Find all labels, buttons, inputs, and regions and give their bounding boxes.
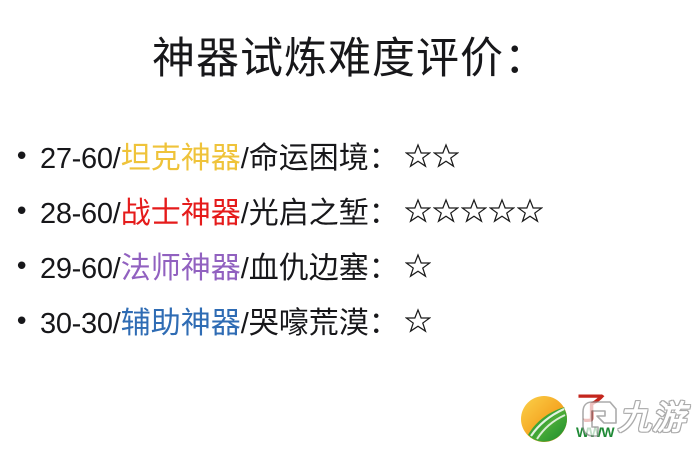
list-item: • 27-60/坦克神器/命运困境： xyxy=(0,131,700,186)
star-rating xyxy=(405,143,459,169)
star-outline-icon xyxy=(405,198,431,224)
star-outline-icon xyxy=(405,143,431,169)
separator: / xyxy=(113,308,121,340)
jiuyou-g-mark-icon xyxy=(580,396,620,440)
location-name: 哭嚎荒漠 xyxy=(249,307,369,340)
separator: / xyxy=(241,253,249,285)
star-rating xyxy=(405,253,431,279)
list-item: • 29-60/法师神器/血仇边塞： xyxy=(0,241,700,296)
colon: ： xyxy=(369,197,399,230)
location-name: 命运困境 xyxy=(249,142,369,175)
star-outline-icon xyxy=(489,198,515,224)
list-item: • 28-60/战士神器/光启之堑： xyxy=(0,186,700,241)
level-range: 30-30 xyxy=(40,308,113,340)
star-outline-icon xyxy=(405,308,431,334)
separator: / xyxy=(113,198,121,230)
page-title: 神器试炼难度评价： xyxy=(0,30,700,90)
level-range: 29-60 xyxy=(40,253,113,285)
list-item-text: 28-60/战士神器/光启之堑： xyxy=(40,197,543,231)
star-rating xyxy=(405,198,543,224)
star-outline-icon xyxy=(461,198,487,224)
bullet-icon: • xyxy=(14,309,40,335)
star-outline-icon xyxy=(433,198,459,224)
colon: ： xyxy=(369,307,399,340)
slide-canvas: 神器试炼难度评价： • 27-60/坦克神器/命运困境： • 28-60/战士神… xyxy=(0,0,700,450)
separator: / xyxy=(241,198,249,230)
star-outline-icon xyxy=(517,198,543,224)
colon: ： xyxy=(369,142,399,175)
list-item-text: 27-60/坦克神器/命运困境： xyxy=(40,142,459,176)
leaf-circle-logo xyxy=(520,395,568,443)
difficulty-list: • 27-60/坦克神器/命运困境： • 28-60/战士神器/光启之堑： • … xyxy=(0,131,700,351)
artifact-class-name: 辅助神器 xyxy=(121,307,241,340)
colon: ： xyxy=(369,252,399,285)
level-range: 27-60 xyxy=(40,143,113,175)
star-rating xyxy=(405,308,431,334)
star-outline-icon xyxy=(405,253,431,279)
bullet-icon: • xyxy=(14,144,40,170)
artifact-class-name: 法师神器 xyxy=(121,252,241,285)
list-item-text: 30-30/辅助神器/哭嚎荒漠： xyxy=(40,307,431,341)
list-item: • 30-30/辅助神器/哭嚎荒漠： xyxy=(0,296,700,351)
branding-area: 了 WWW 九游 xyxy=(516,389,700,450)
separator: / xyxy=(113,143,121,175)
location-name: 光启之堑 xyxy=(249,197,369,230)
separator: / xyxy=(241,308,249,340)
leaf-logo-icon xyxy=(520,395,568,443)
bullet-icon: • xyxy=(14,254,40,280)
separator: / xyxy=(241,143,249,175)
level-range: 28-60 xyxy=(40,198,113,230)
jiuyou-watermark: 九游 xyxy=(580,390,700,448)
artifact-class-name: 坦克神器 xyxy=(121,142,241,175)
list-item-text: 29-60/法师神器/血仇边塞： xyxy=(40,252,431,286)
jiuyou-watermark-text: 九游 xyxy=(618,398,686,438)
location-name: 血仇边塞 xyxy=(249,252,369,285)
artifact-class-name: 战士神器 xyxy=(121,197,241,230)
star-outline-icon xyxy=(433,143,459,169)
bullet-icon: • xyxy=(14,199,40,225)
separator: / xyxy=(113,253,121,285)
